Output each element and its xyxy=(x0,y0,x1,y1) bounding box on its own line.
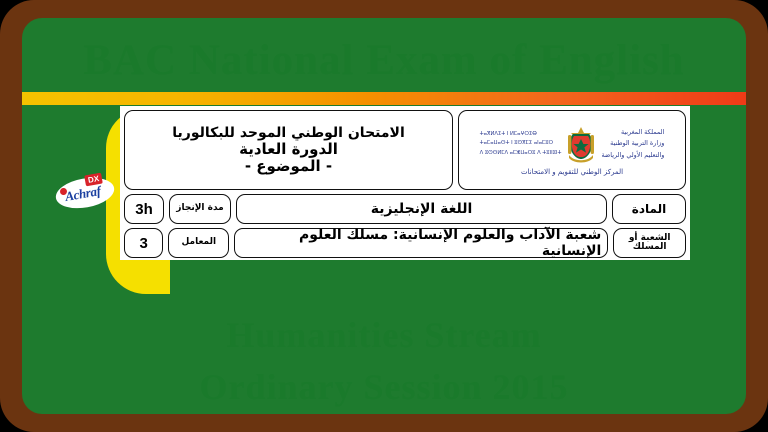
table-row: 3 المعامل شعبة الآداب والعلوم الإنسانية:… xyxy=(120,226,690,260)
poster-canvas: BAC National Exam of English الامتحان ال… xyxy=(0,0,768,432)
document-header-row: الامتحان الوطني الموحد للبكالوريا الدورة… xyxy=(120,106,690,192)
exam-title-box: الامتحان الوطني الموحد للبكالوريا الدورة… xyxy=(124,110,453,190)
page-title: BAC National Exam of English xyxy=(22,36,746,85)
coefficient-label-cell: المعامل xyxy=(168,228,229,258)
tifinagh-line-1: ⵜⴰⴳⵍⴷⵉⵜ ⵏ ⵍⵎⴰⵖⵔⵉⴱ xyxy=(480,130,562,139)
tifinagh-line-2: ⵜⴰⵎⴰⵡⴰⵙⵜ ⵏ ⵓⵙⴳⵎⵉ ⴰⵏⴰⵎⵓⵔ xyxy=(480,139,562,148)
ministry-arabic-line-1: المملكة المغربية xyxy=(601,127,664,138)
stream-title-text: Humanities Stream xyxy=(226,315,541,355)
gradient-divider-band xyxy=(22,92,746,105)
coefficient-value-cell: 3 xyxy=(124,228,163,258)
tifinagh-text-block: ⵜⴰⴳⵍⴷⵉⵜ ⵏ ⵍⵎⴰⵖⵔⵉⴱ ⵜⴰⵎⴰⵡⴰⵙⵜ ⵏ ⵓⵙⴳⵎⵉ ⴰⵏⴰⵎⵓ… xyxy=(480,130,562,157)
stream-title: Humanities Stream xyxy=(22,314,746,356)
stream-value-cell: شعبة الآداب والعلوم الإنسانية: مسلك العل… xyxy=(234,228,608,258)
ministry-arabic-block: المملكة المغربية وزارة التربية الوطنية و… xyxy=(601,127,664,161)
stream-header-cell: الشعبة أو المسلك xyxy=(613,228,686,258)
poster-green-field: BAC National Exam of English الامتحان ال… xyxy=(22,18,746,414)
page-title-text: BAC National Exam of English xyxy=(83,37,684,84)
morocco-coat-of-arms-icon xyxy=(564,124,598,164)
ministry-box: ⵜⴰⴳⵍⴷⵉⵜ ⵏ ⵍⵎⴰⵖⵔⵉⴱ ⵜⴰⵎⴰⵡⴰⵙⵜ ⵏ ⵓⵙⴳⵎⵉ ⴰⵏⴰⵎⵓ… xyxy=(458,110,686,190)
ministry-center-line: المركز الوطني للتقويم و الامتحانات xyxy=(521,168,623,176)
session-title: Ordinary Session 2015 xyxy=(22,366,746,408)
document-sheet: الامتحان الوطني الموحد للبكالوريا الدورة… xyxy=(120,106,690,260)
exam-title-line1: الامتحان الوطني الموحد للبكالوريا xyxy=(172,125,405,141)
ministry-arabic-line-2: وزارة التربية الوطنية xyxy=(601,138,664,149)
exam-header-document: الامتحان الوطني الموحد للبكالوريا الدورة… xyxy=(100,106,690,296)
achraf-logo-sticker: Achraf DX xyxy=(55,168,115,212)
ministry-arabic-line-3: والتعليم الأولي والرياضة xyxy=(601,150,664,161)
table-row: 3h مدة الإنجاز اللغة الإنجليزية المادة xyxy=(120,192,690,226)
subject-value-cell: اللغة الإنجليزية xyxy=(236,194,607,224)
subject-header-cell: المادة xyxy=(612,194,686,224)
duration-value-cell: 3h xyxy=(124,194,164,224)
exam-title-line2: الدورة العادية xyxy=(239,141,338,158)
ministry-top-row: ⵜⴰⴳⵍⴷⵉⵜ ⵏ ⵍⵎⴰⵖⵔⵉⴱ ⵜⴰⵎⴰⵡⴰⵙⵜ ⵏ ⵓⵙⴳⵎⵉ ⴰⵏⴰⵎⵓ… xyxy=(480,124,665,164)
session-title-text: Ordinary Session 2015 xyxy=(199,367,568,407)
duration-label-cell: مدة الإنجاز xyxy=(169,194,231,224)
tifinagh-line-3: ⴷ ⵓⵙⵙⵍⵎⴷ ⴰⵎⵣⵡⴰⵔⵓ ⴷ ⵜⵓⵏⵏⵓⵏⵜ xyxy=(480,149,562,158)
exam-title-line3: - الموضوع - xyxy=(245,158,332,175)
